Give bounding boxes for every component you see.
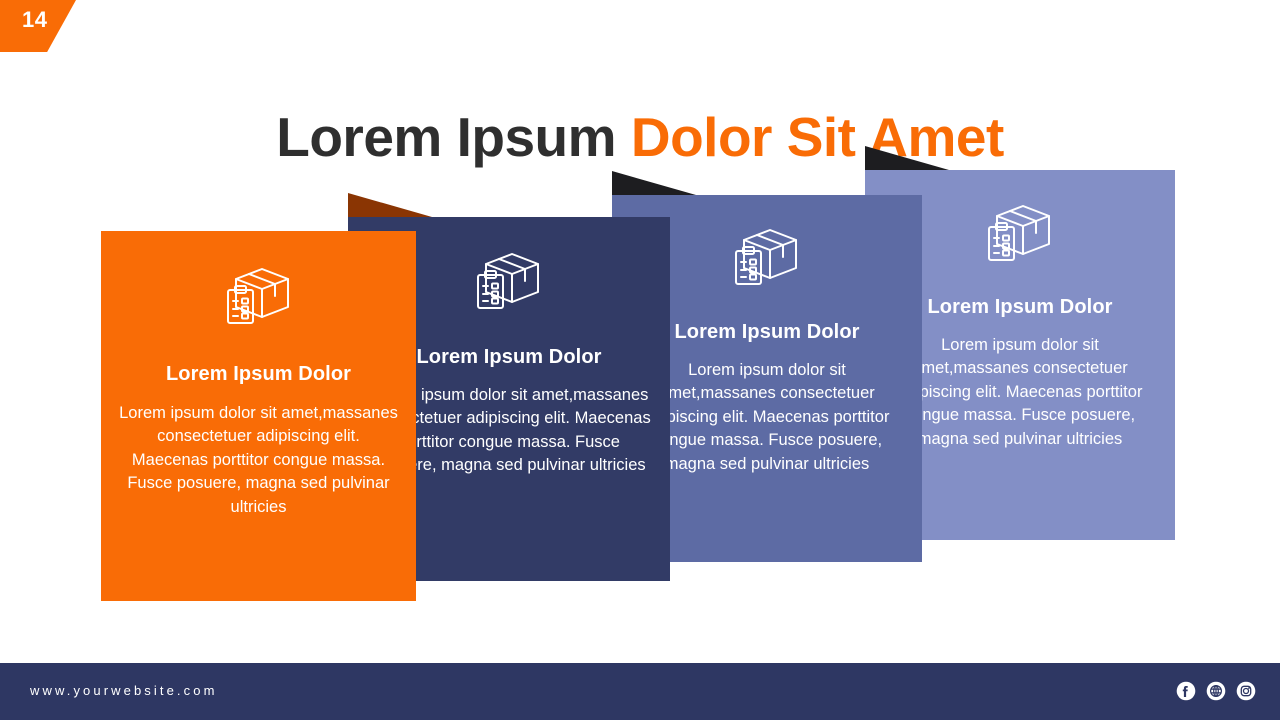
- box-clipboard-icon: [222, 263, 296, 329]
- card-fold-corner: [348, 193, 432, 217]
- website-url[interactable]: www.yourwebsite.com: [30, 683, 218, 698]
- card-fold-corner: [865, 146, 949, 170]
- card-body: Lorem ipsum dolor sit amet,massanes cons…: [630, 359, 904, 476]
- instagram-icon[interactable]: [1236, 681, 1256, 701]
- card-body: Lorem ipsum dolor sit amet,massanes cons…: [883, 334, 1157, 451]
- box-clipboard-icon: [983, 200, 1057, 266]
- card-body: Lorem ipsum dolor sit amet,massanes cons…: [119, 402, 398, 519]
- cards-container: Lorem Ipsum Dolor Lorem ipsum dolor sit …: [0, 0, 1280, 663]
- slide-number: 14: [22, 9, 47, 31]
- box-clipboard-icon: [730, 224, 804, 290]
- card-title: Lorem Ipsum Dolor: [630, 321, 904, 344]
- card-title: Lorem Ipsum Dolor: [883, 296, 1157, 319]
- card-fold-corner: [612, 171, 696, 195]
- facebook-icon[interactable]: [1176, 681, 1196, 701]
- card-title: Lorem Ipsum Dolor: [119, 363, 398, 386]
- footer-bar: www.yourwebsite.com: [0, 663, 1280, 720]
- globe-icon[interactable]: [1206, 681, 1226, 701]
- card-item[interactable]: Lorem Ipsum Dolor Lorem ipsum dolor sit …: [101, 231, 416, 601]
- social-links: [1176, 681, 1256, 701]
- box-clipboard-icon: [472, 248, 546, 314]
